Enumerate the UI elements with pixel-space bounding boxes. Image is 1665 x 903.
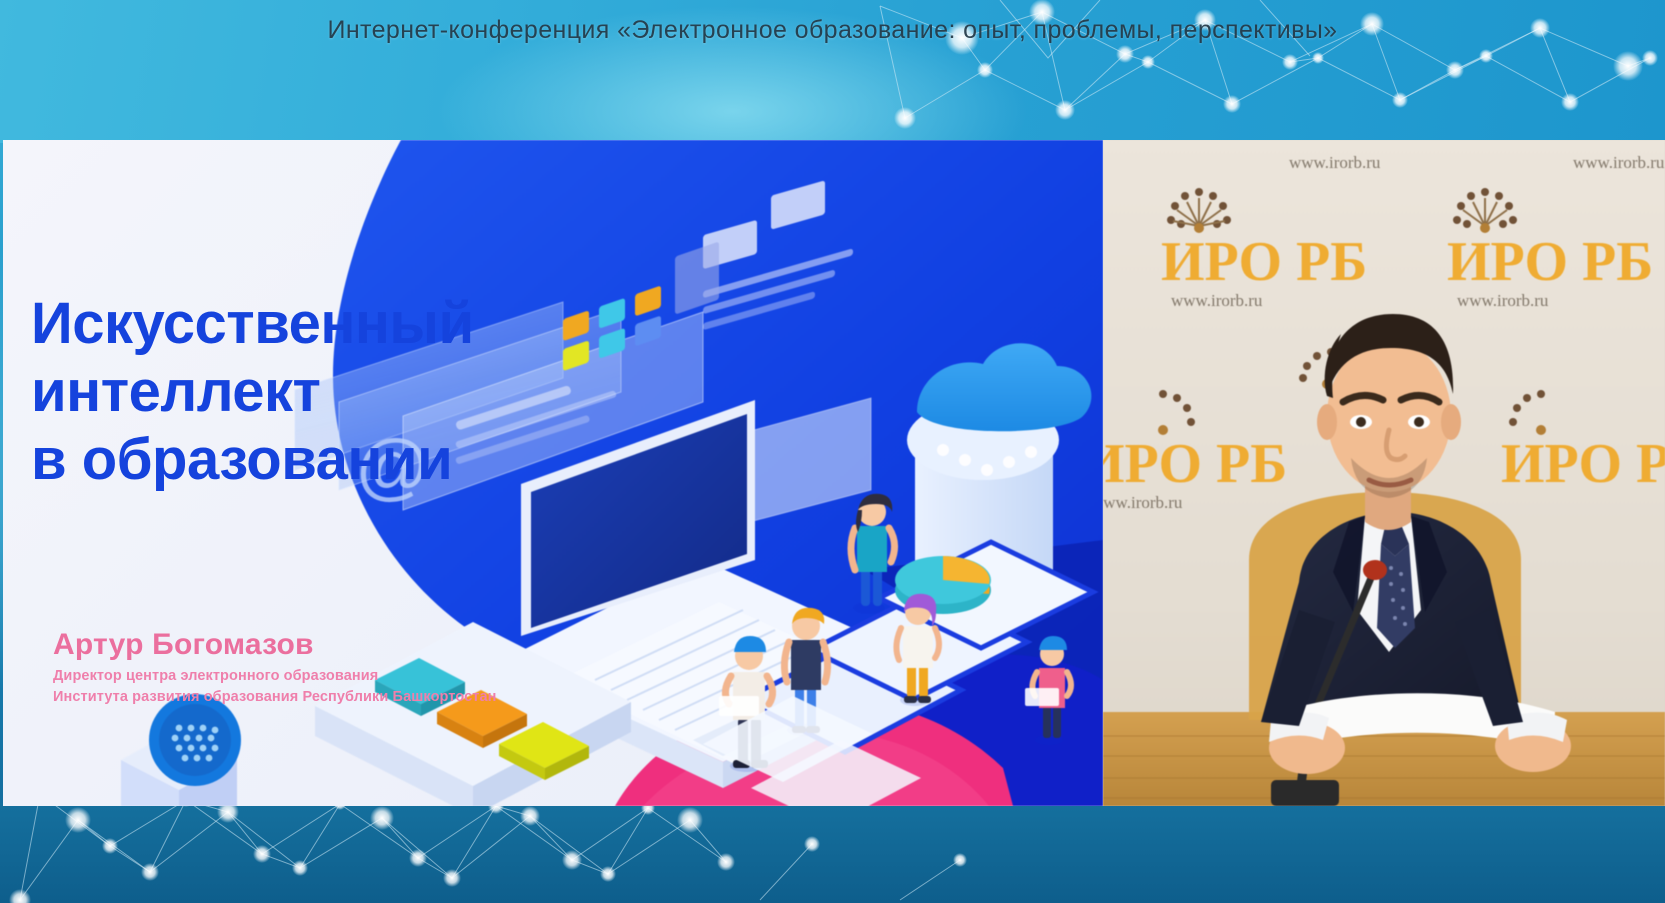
- presenter-block: Артур Богомазов Директор центра электрон…: [53, 628, 496, 708]
- presenter-role-line-1: Директор центра электронного образования: [53, 666, 496, 687]
- presentation-slide[interactable]: @: [3, 140, 1103, 806]
- slide-title-line-2: интеллект: [31, 358, 551, 426]
- backdrop-bottom-band: [0, 803, 1665, 903]
- slide-title: Искусственный интеллект в образовании: [31, 290, 551, 494]
- svg-text:www.irorb.ru: www.irorb.ru: [1457, 291, 1549, 310]
- speaker-video-frame: ИРО РБ www.irorb.ru: [1103, 140, 1665, 806]
- svg-text:ИРО РБ: ИРО РБ: [1501, 433, 1665, 495]
- presenter-role-line-2: Института развития образования Республик…: [53, 687, 496, 708]
- svg-text:www.irorb.ru: www.irorb.ru: [1289, 153, 1381, 172]
- svg-text:www.irorb.ru: www.irorb.ru: [1573, 153, 1665, 172]
- svg-text:ИРО РБ: ИРО РБ: [1447, 231, 1653, 293]
- speaker-video-tile[interactable]: ИРО РБ www.irorb.ru: [1103, 140, 1665, 806]
- presenter-name: Артур Богомазов: [53, 628, 496, 661]
- presenter-role: Директор центра электронного образования…: [53, 666, 496, 708]
- svg-text:www.irorb.ru: www.irorb.ru: [1103, 493, 1183, 512]
- slide-title-line-1: Искусственный: [31, 290, 551, 358]
- shared-content-region[interactable]: @: [3, 140, 1665, 806]
- svg-text:ИРО РБ: ИРО РБ: [1161, 231, 1367, 293]
- conference-header: Интернет-конференция «Электронное образо…: [0, 0, 1665, 60]
- conference-title: Интернет-конференция «Электронное образо…: [327, 16, 1337, 45]
- svg-text:www.irorb.ru: www.irorb.ru: [1171, 291, 1263, 310]
- slide-title-line-3: в образовании: [31, 426, 551, 494]
- screen-stage: Интернет-конференция «Электронное образо…: [0, 0, 1665, 903]
- svg-text:ИРО РБ: ИРО РБ: [1103, 433, 1287, 495]
